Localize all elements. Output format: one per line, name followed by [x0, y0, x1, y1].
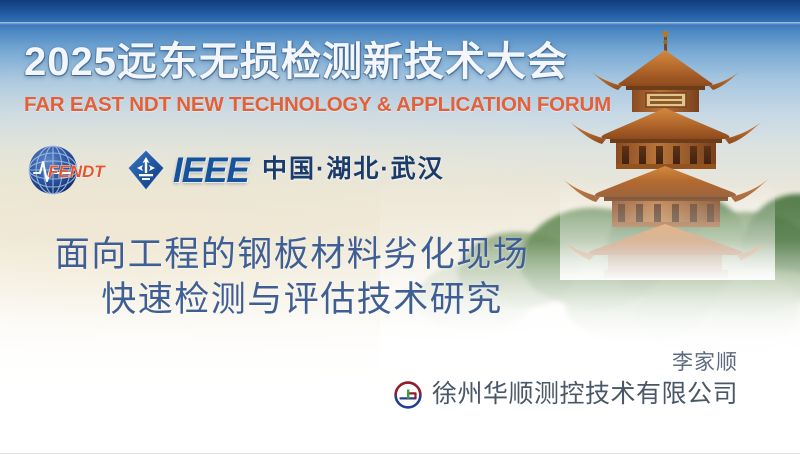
ieee-wordmark: IEEE	[173, 153, 249, 188]
presentation-title-line-2: 快速检测与评估技术研究	[0, 277, 580, 322]
organization-name: 徐州华顺测控技术有限公司	[432, 380, 738, 410]
fendt-logo: FENDT	[26, 143, 112, 197]
presentation-title-line-1: 面向工程的钢板材料劣化现场	[0, 232, 580, 277]
conference-headline-cn: 2025远东无损检测新技术大会	[24, 38, 584, 86]
presentation-title: 面向工程的钢板材料劣化现场 快速检测与评估技术研究	[0, 232, 580, 322]
conference-location: 中国·湖北·武汉	[262, 152, 445, 186]
svg-text:FENDT: FENDT	[48, 162, 106, 181]
logo-row: FENDT	[26, 141, 249, 199]
top-accent-line	[0, 22, 800, 25]
presenter-name: 李家顺	[672, 349, 738, 375]
title-slide: 2025远东无损检测新技术大会 FAR EAST NDT NEW TECHNOL…	[0, 0, 800, 454]
yellow-crane-tower-illustration	[560, 30, 775, 280]
organization-row: 徐州华顺测控技术有限公司	[393, 380, 738, 410]
conference-headline-en: FAR EAST NDT NEW TECHNOLOGY & APPLICATIO…	[24, 92, 604, 118]
company-logo-icon	[393, 380, 423, 410]
ieee-logo: IEEE	[124, 148, 249, 192]
